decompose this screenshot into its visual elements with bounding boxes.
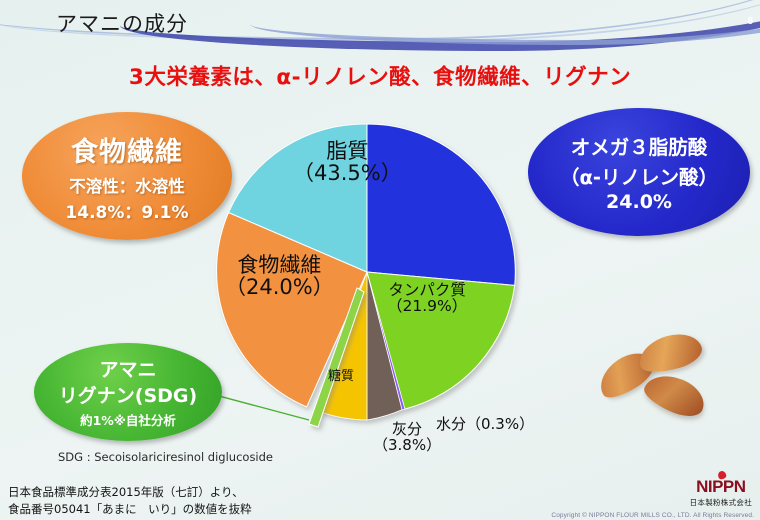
callout-omega3-title: オメガ３脂肪酸 bbox=[571, 131, 708, 160]
pie-chart: 脂質 （43.5%） 食物繊維 （24.0%） タンパク質 （21.9%） 糖質… bbox=[197, 104, 547, 449]
callout-lignan-value: 約1%※自社分析 bbox=[80, 410, 176, 429]
company-name-jp: 日本製粉株式会社 bbox=[690, 497, 752, 508]
pie-label-fat-value: （43.5%） bbox=[293, 162, 402, 184]
nippn-wordmark-text: NIPPN bbox=[696, 477, 745, 496]
flaxseed-3 bbox=[640, 368, 710, 423]
callout-lignan-title: アマニ bbox=[99, 355, 156, 382]
pie-label-ash: 灰分 （3.8%） bbox=[373, 422, 441, 454]
pie-label-fiber: 食物繊維 （24.0%） bbox=[225, 254, 334, 299]
callout-omega3: オメガ３脂肪酸 （α-リノレン酸） 24.0% bbox=[528, 108, 750, 236]
pie-label-fiber-name: 食物繊維 bbox=[225, 254, 334, 276]
pie-label-ash-value: （3.8%） bbox=[373, 438, 441, 454]
callout-fiber-ratio-value: 14.8%：9.1% bbox=[65, 198, 188, 223]
callout-fiber: 食物繊維 不溶性：水溶性 14.8%：9.1% bbox=[22, 112, 232, 240]
nippn-wordmark: NIPPN bbox=[696, 477, 745, 497]
pie-label-protein-value: （21.9%） bbox=[387, 298, 467, 314]
company-logo: NIPPN 日本製粉株式会社 bbox=[690, 477, 752, 508]
source-footnote: 日本食品標準成分表2015年版（七訂）より、 食品番号05041「あまに いり」… bbox=[8, 484, 252, 517]
flaxseed-2 bbox=[635, 328, 706, 378]
pie-label-fat-name: 脂質 bbox=[293, 140, 402, 162]
pie-label-protein: タンパク質 （21.9%） bbox=[387, 282, 467, 315]
callout-lignan: アマニ リグナン(SDG) 約1%※自社分析 bbox=[34, 343, 222, 441]
callout-fiber-ratio-label: 不溶性：水溶性 bbox=[69, 173, 185, 197]
source-footnote-line2: 食品番号05041「あまに いり」の数値を抜粋 bbox=[8, 501, 252, 518]
sdg-footnote: SDG : Secoisolariciresinol diglucoside bbox=[58, 450, 273, 464]
pie-label-water: 水分（0.3%） bbox=[436, 417, 534, 433]
callout-fiber-title: 食物繊維 bbox=[71, 130, 183, 169]
callout-lignan-subtitle: リグナン(SDG) bbox=[59, 381, 197, 408]
flaxseed-photo bbox=[586, 330, 736, 440]
page-number: 8 bbox=[747, 16, 753, 27]
pie-label-fat: 脂質 （43.5%） bbox=[293, 140, 402, 185]
headline-text: 3大栄養素は、α-リノレン酸、食物繊維、リグナン bbox=[0, 60, 760, 91]
callout-omega3-subtitle: （α-リノレン酸） bbox=[560, 161, 718, 190]
page-title: アマニの成分 bbox=[56, 8, 188, 38]
callout-omega3-value: 24.0% bbox=[606, 191, 672, 213]
pie-label-protein-name: タンパク質 bbox=[387, 282, 467, 298]
pie-label-sugar: 糖質 bbox=[328, 370, 354, 384]
slide-canvas: 8 アマニの成分 3大栄養素は、α-リノレン酸、食物繊維、リグナン bbox=[0, 0, 760, 520]
pie-label-fiber-value: （24.0%） bbox=[225, 276, 334, 298]
copyright-text: Copyright © NIPPON FLOUR MILLS CO., LTD.… bbox=[551, 512, 754, 519]
source-footnote-line1: 日本食品標準成分表2015年版（七訂）より、 bbox=[8, 484, 252, 501]
